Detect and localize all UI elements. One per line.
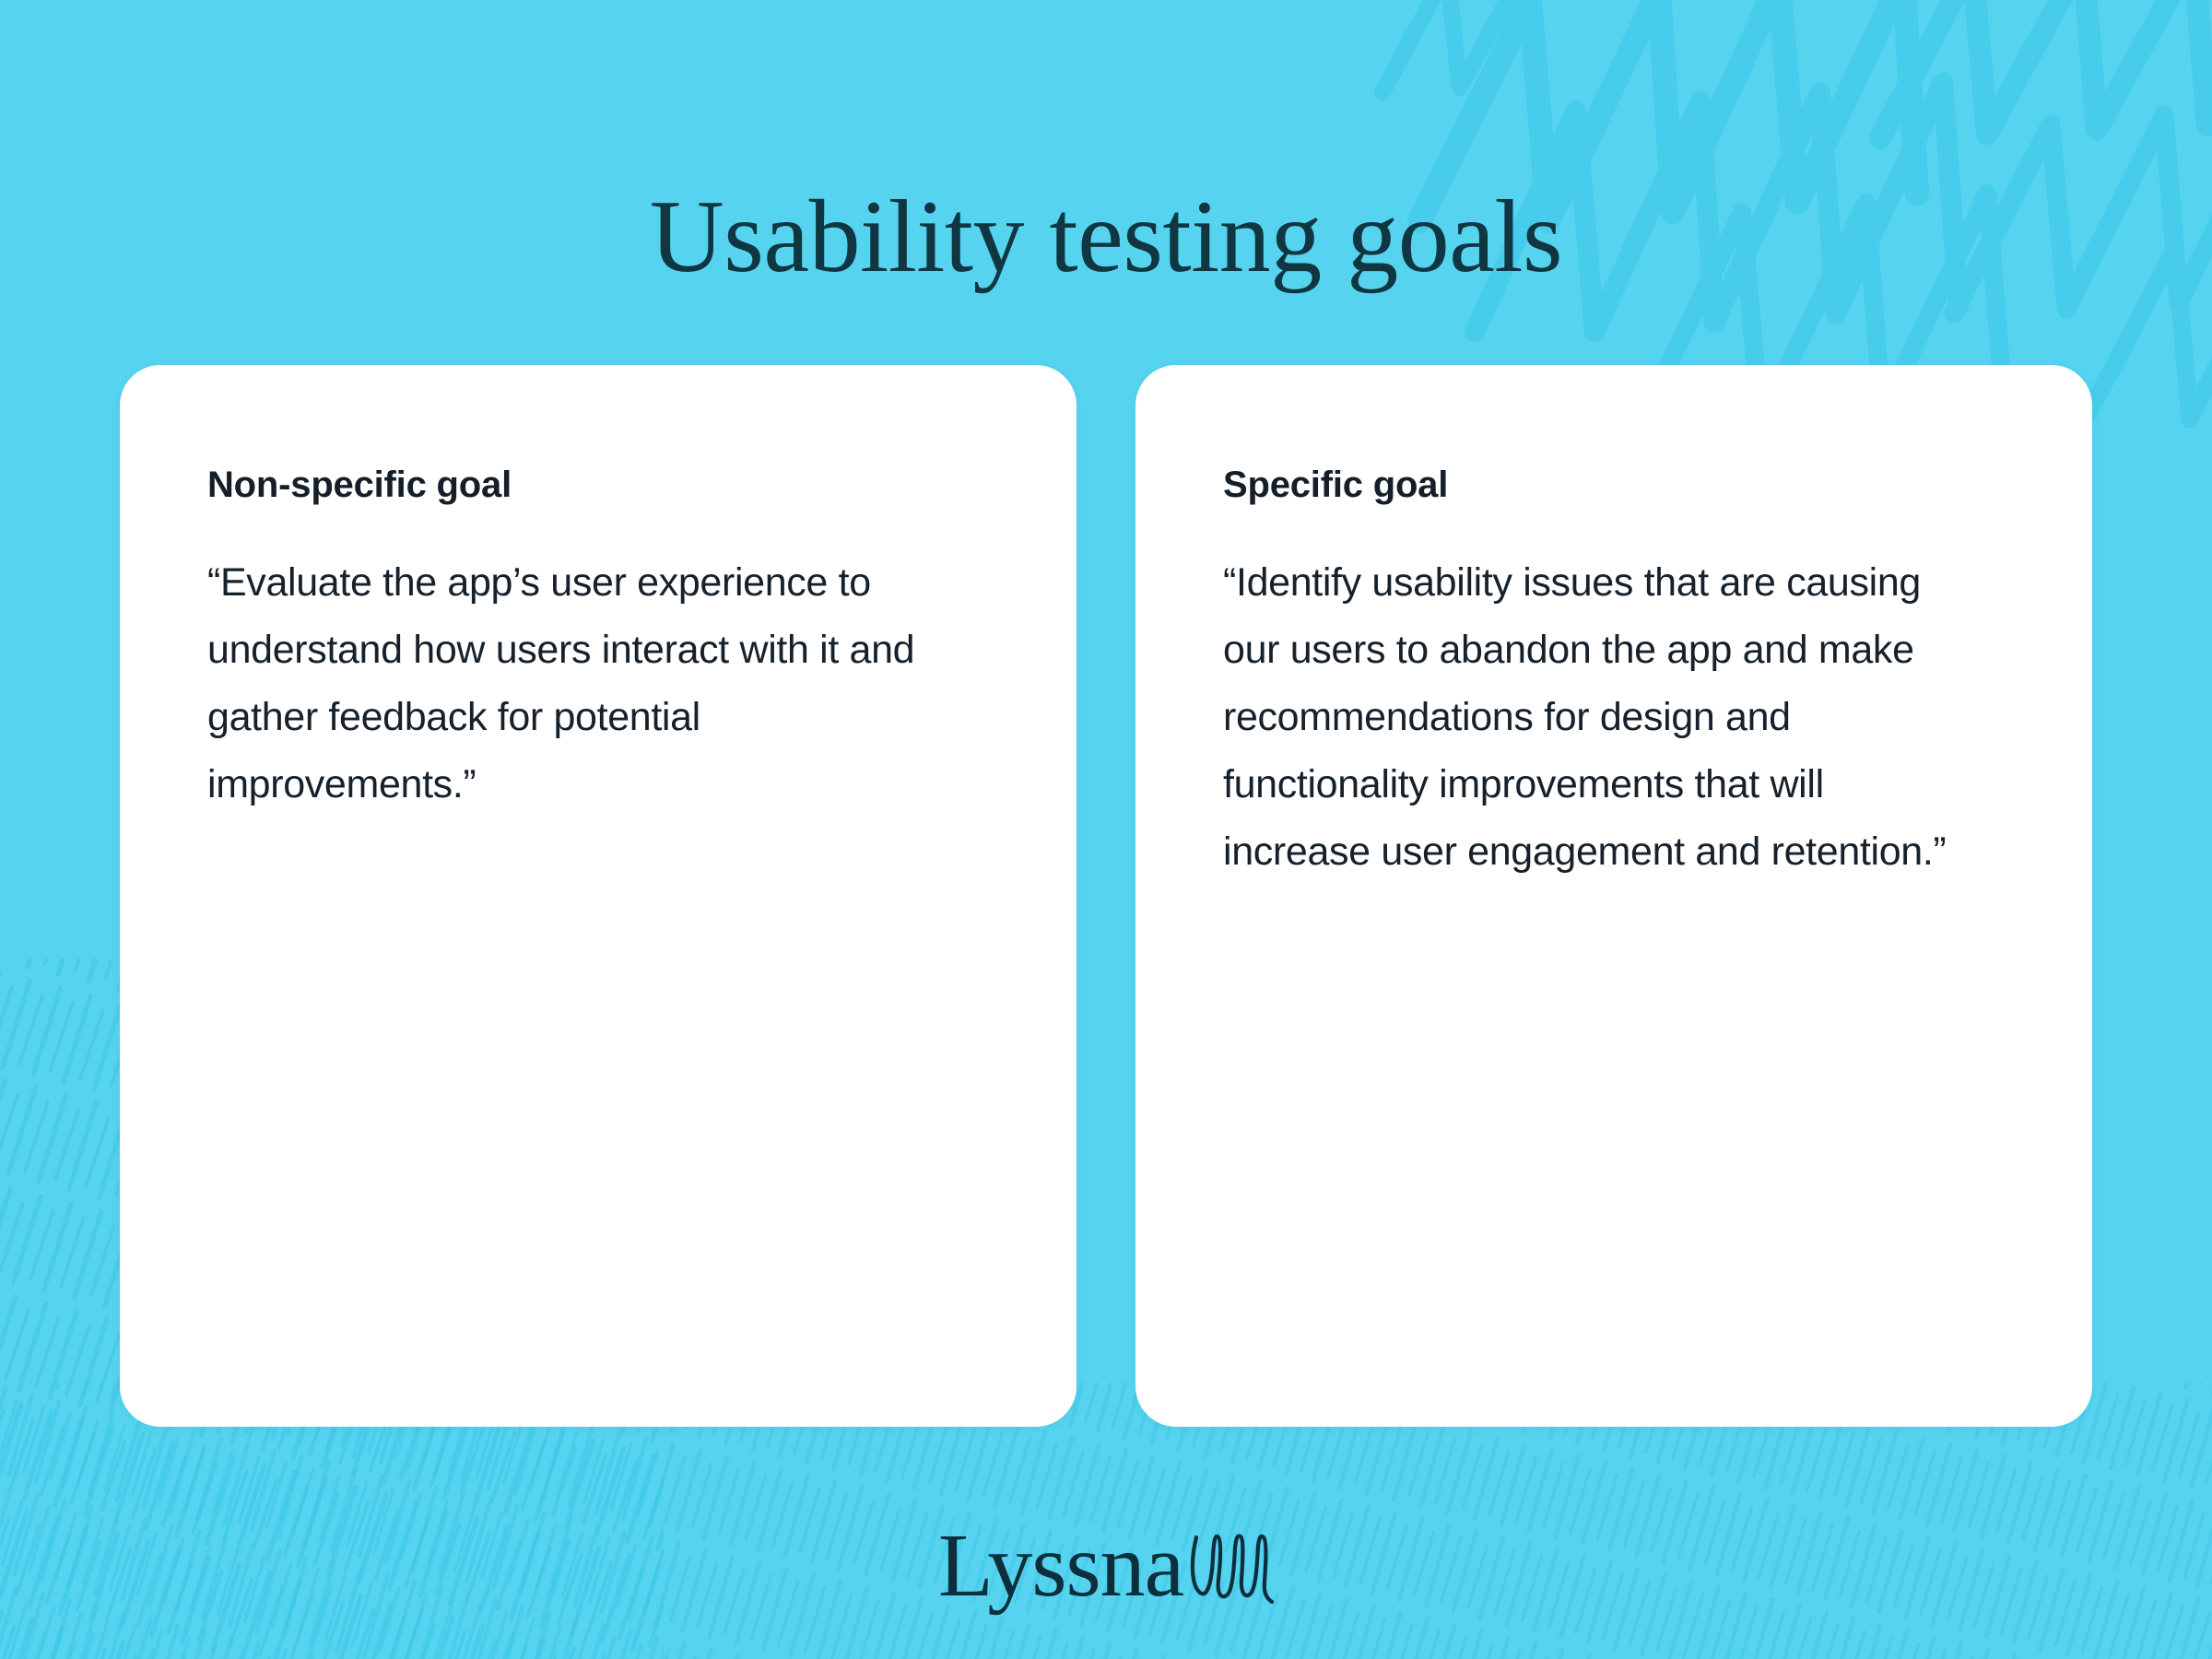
non-specific-goal-card: Non-specific goal “Evaluate the app’s us… [120,365,1077,1427]
specific-goal-card: Specific goal “Identify usability issues… [1135,365,2092,1427]
lyssna-wordmark: Lyssna [938,1521,1183,1611]
slide-canvas: Usability testing goals Non-specific goa… [0,0,2212,1659]
page-title: Usability testing goals [0,178,2212,297]
lyssna-logo: Lyssna [0,1521,2212,1611]
non-specific-goal-quote: “Evaluate the app’s user experience to u… [207,549,945,818]
squiggle-loops-icon [1189,1532,1274,1604]
non-specific-goal-heading: Non-specific goal [207,463,1005,507]
specific-goal-quote: “Identify usability issues that are caus… [1223,549,1960,886]
goal-cards-row: Non-specific goal “Evaluate the app’s us… [120,365,2092,1427]
specific-goal-heading: Specific goal [1223,463,2020,507]
